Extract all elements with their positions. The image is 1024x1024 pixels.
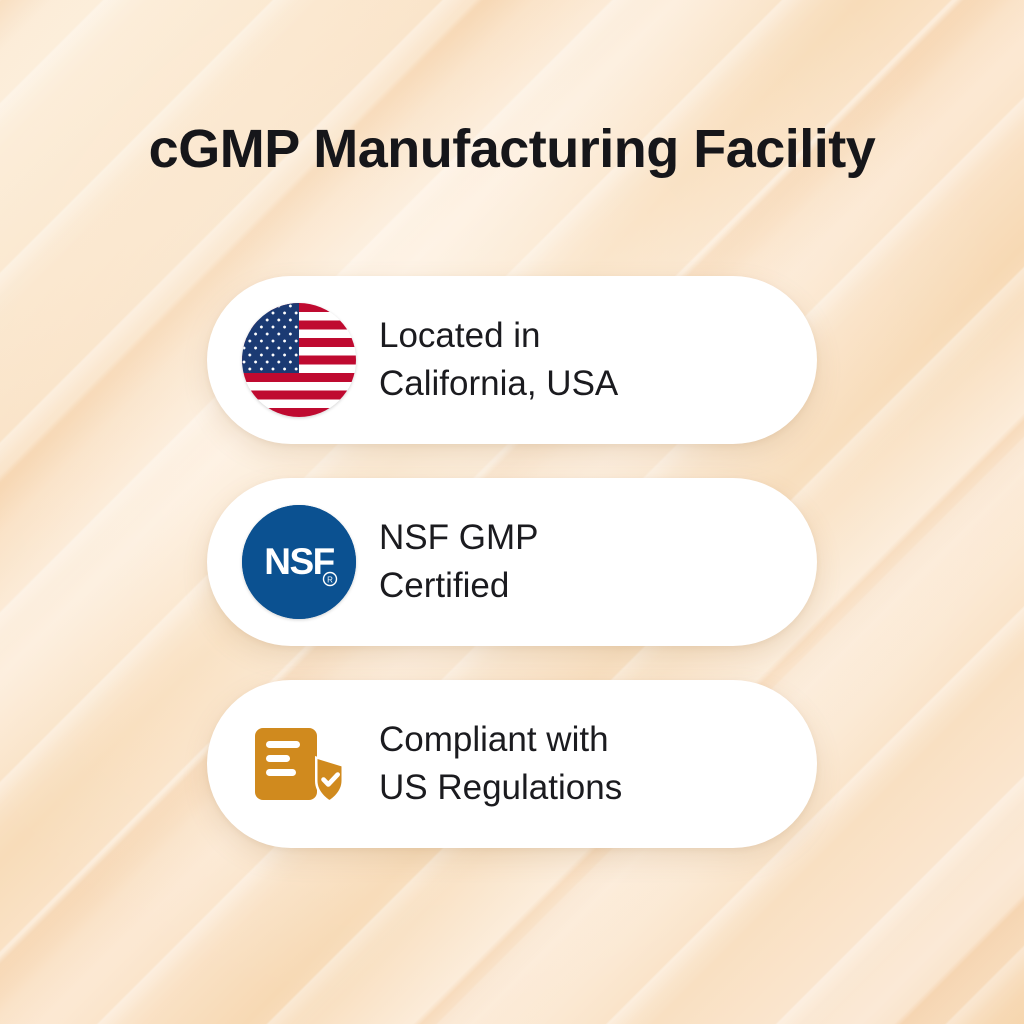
feature-card-compliance-text: Compliant with US Regulations xyxy=(379,716,622,811)
feature-card-compliance[interactable]: Compliant with US Regulations xyxy=(207,680,817,848)
feature-card-nsf-line1: NSF GMP xyxy=(379,518,538,557)
svg-text:R: R xyxy=(327,576,333,585)
feature-card-nsf[interactable]: NSF R NSF GMP Certified xyxy=(207,478,817,646)
feature-card-nsf-text: NSF GMP Certified xyxy=(379,514,538,609)
feature-card-location-line2: California, USA xyxy=(379,360,618,408)
feature-card-compliance-line1: Compliant with xyxy=(379,720,609,759)
feature-card-location-text: Located in California, USA xyxy=(379,312,618,407)
feature-card-compliance-line2: US Regulations xyxy=(379,764,622,812)
feature-card-location[interactable]: Located in California, USA xyxy=(207,276,817,444)
poster-canvas: cGMP Manufacturing Facility Located in C… xyxy=(0,0,1024,1024)
nsf-badge-icon: NSF R xyxy=(241,504,357,620)
us-flag-icon xyxy=(241,302,357,418)
feature-card-location-line1: Located in xyxy=(379,316,541,355)
feature-card-list: Located in California, USA NSF R NSF GMP… xyxy=(0,276,1024,882)
page-title: cGMP Manufacturing Facility xyxy=(0,118,1024,180)
document-shield-check-svg xyxy=(247,712,351,816)
document-shield-check-icon xyxy=(241,706,357,822)
nsf-badge-svg: NSF R xyxy=(242,505,356,619)
feature-card-nsf-line2: Certified xyxy=(379,562,538,610)
